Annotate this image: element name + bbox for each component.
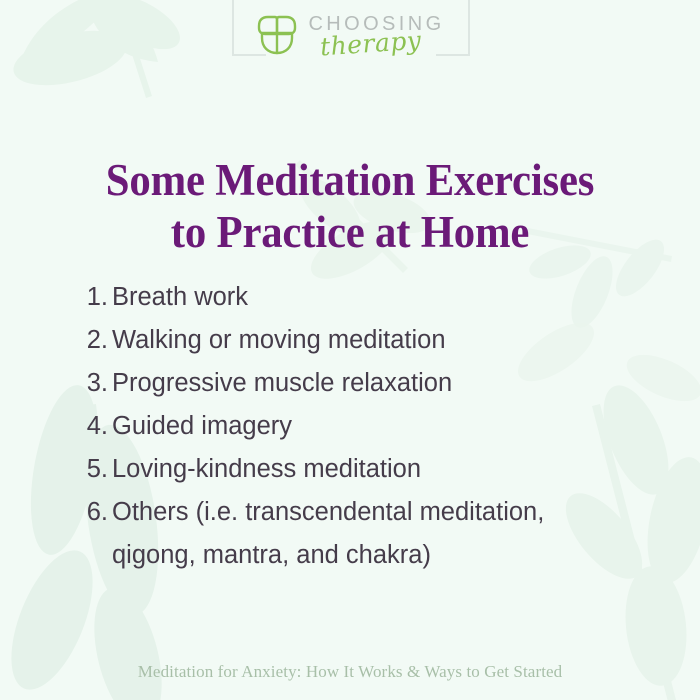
page-title-line-1: Some Meditation Exercises	[18, 154, 683, 206]
list-item-number: 4.	[78, 405, 112, 448]
list-item-text: Progressive muscle relaxation	[112, 362, 648, 405]
list-item-line: qigong, mantra, and chakra)	[112, 534, 648, 577]
list-item: 4. Guided imagery	[78, 405, 648, 448]
list-item-text: Walking or moving meditation	[112, 319, 648, 362]
list-item-line: Loving-kindness meditation	[112, 448, 648, 491]
list-item-text: Guided imagery	[112, 405, 648, 448]
exercise-list: 1. Breath work 2. Walking or moving medi…	[78, 276, 648, 577]
brand-wordmark: CHOOSING therapy	[308, 14, 444, 56]
page-title-line-2: to Practice at Home	[18, 206, 683, 258]
list-item-text: Breath work	[112, 276, 648, 319]
poster-header: CHOOSING therapy	[0, 0, 700, 92]
list-item-line: Walking or moving meditation	[112, 319, 648, 362]
list-item-number: 1.	[78, 276, 112, 319]
list-item-line: Guided imagery	[112, 405, 648, 448]
list-item-number: 2.	[78, 319, 112, 362]
infographic-poster: CHOOSING therapy Some Meditation Exercis…	[0, 0, 700, 700]
page-title: Some Meditation Exercises to Practice at…	[18, 154, 683, 258]
footer-caption: Meditation for Anxiety: How It Works & W…	[0, 662, 700, 682]
list-item-line: Progressive muscle relaxation	[112, 362, 648, 405]
list-item-line: Breath work	[112, 276, 648, 319]
brand-name-script: therapy	[320, 27, 423, 59]
lotus-leaf-icon	[255, 14, 299, 56]
list-item-number: 5.	[78, 448, 112, 491]
brand-logo: CHOOSING therapy	[0, 14, 700, 56]
list-item-line: Others (i.e. transcendental meditation,	[112, 491, 648, 534]
list-item: 6. Others (i.e. transcendental meditatio…	[78, 491, 648, 577]
list-item: 5. Loving-kindness meditation	[78, 448, 648, 491]
list-item: 2. Walking or moving meditation	[78, 319, 648, 362]
list-item-text: Others (i.e. transcendental meditation, …	[112, 491, 648, 577]
list-item: 1. Breath work	[78, 276, 648, 319]
list-item-text: Loving-kindness meditation	[112, 448, 648, 491]
list-item-number: 6.	[78, 491, 112, 534]
list-item-number: 3.	[78, 362, 112, 405]
list-item: 3. Progressive muscle relaxation	[78, 362, 648, 405]
